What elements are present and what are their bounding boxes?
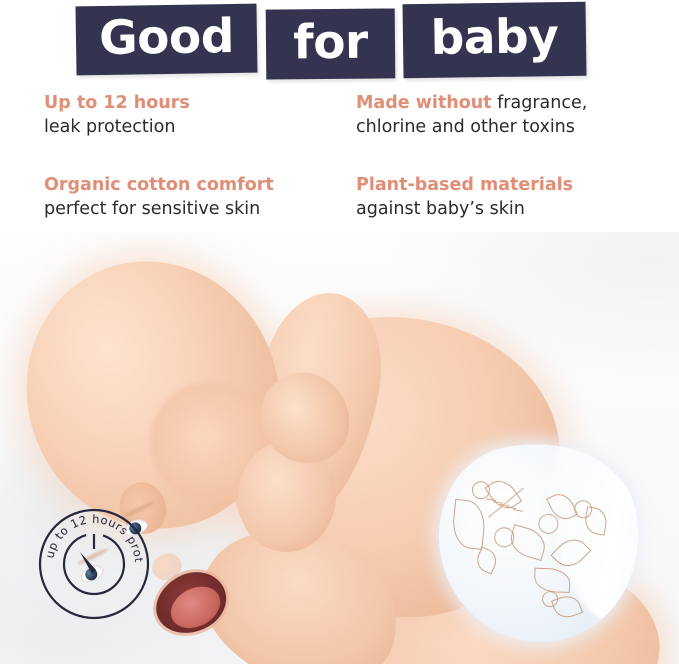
badge-outer-ring <box>40 510 148 618</box>
benefit-headline-strong: Up to 12 hours <box>44 93 190 113</box>
benefit-subtext: leak protection <box>44 116 354 139</box>
headline-word-for: for <box>293 18 368 70</box>
benefit-item-no-toxins: Made without fragrance, chlorine and oth… <box>356 92 666 139</box>
benefit-headline: Plant-based materials <box>356 174 666 197</box>
benefit-subtext: perfect for sensitive skin <box>44 198 354 221</box>
diaper-leaf-print <box>450 499 487 550</box>
diaper-berry-print <box>470 479 491 500</box>
headline-box-good: Good <box>75 4 257 76</box>
benefit-item-plant-based: Plant-based materials against baby’s ski… <box>356 174 666 221</box>
headline-word-baby: baby <box>430 13 558 68</box>
benefit-list: Up to 12 hours leak protection Made with… <box>0 92 679 232</box>
benefit-item-leak-protection: Up to 12 hours leak protection <box>44 92 354 139</box>
protection-badge: up to 12 hours protection <box>38 508 150 620</box>
timer-icon <box>64 534 124 594</box>
benefit-subtext: against baby’s skin <box>356 198 666 221</box>
benefit-headline: Up to 12 hours <box>44 92 354 115</box>
benefit-headline-strong: Plant-based materials <box>356 175 573 195</box>
benefit-subtext: chlorine and other toxins <box>356 116 666 139</box>
headline: Good for baby <box>0 0 679 88</box>
diaper-frond-print <box>513 509 523 512</box>
benefit-headline-strong: Organic cotton comfort <box>44 175 274 195</box>
headline-box-for: for <box>266 8 396 79</box>
benefit-headline-strong: Made without <box>356 93 492 113</box>
diaper-leaf-print <box>473 546 500 574</box>
headline-word-good: Good <box>99 13 235 66</box>
headline-box-baby: baby <box>402 2 586 79</box>
badge-label: up to 12 hours protection <box>38 508 146 563</box>
timer-needle <box>80 552 96 574</box>
benefit-headline: Organic cotton comfort <box>44 174 354 197</box>
benefit-headline: Made without fragrance, <box>356 92 666 115</box>
product-feature-graphic: Good for baby Up to 12 hours leak protec… <box>0 0 679 664</box>
benefit-item-organic-cotton: Organic cotton comfort perfect for sensi… <box>44 174 354 221</box>
benefit-headline-rest: fragrance, <box>492 93 588 113</box>
svg-text:up to 12 hours protection: up to 12 hours protection <box>38 508 146 563</box>
